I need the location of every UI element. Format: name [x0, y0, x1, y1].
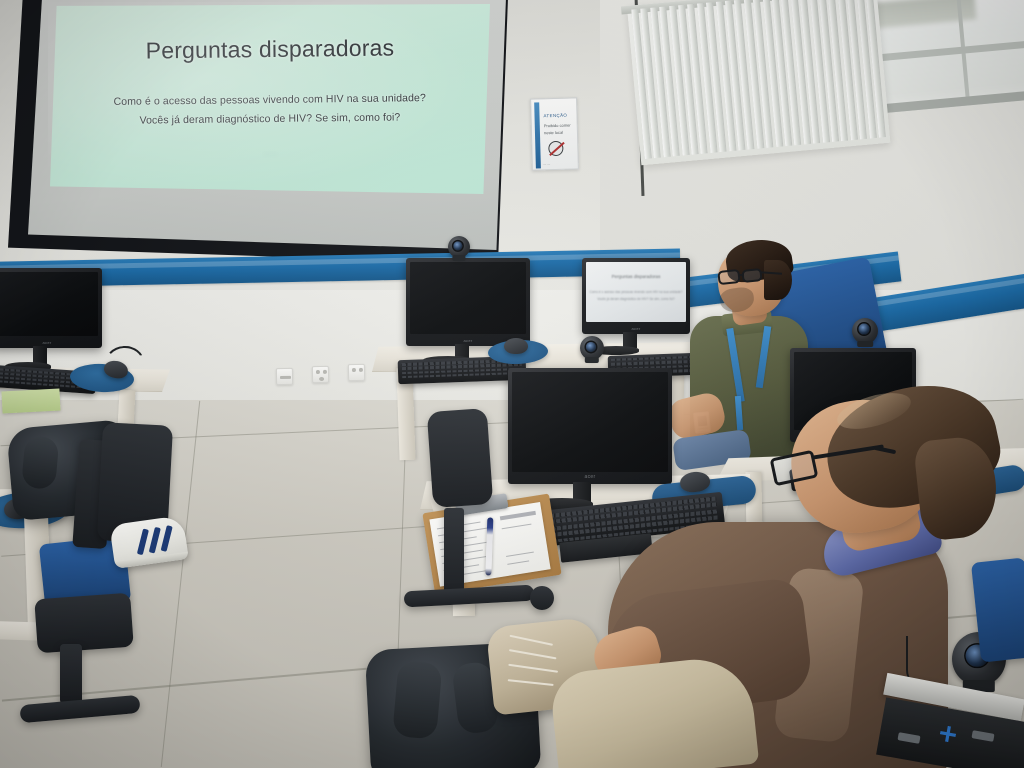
slide-body: Como é o acesso das pessoas vivendo com … — [76, 89, 465, 160]
projection-screen-frame: Perguntas disparadoras Como é o acesso d… — [8, 0, 508, 264]
slide-title: Perguntas disparadoras — [76, 34, 464, 66]
notice-line-2: neste local — [544, 129, 574, 135]
glasses-background — [717, 269, 740, 285]
monitor-slide-line-2: Vocês já deram diagnóstico de HIV? Se si… — [586, 297, 686, 301]
wall-outlet-3[interactable] — [348, 364, 365, 381]
webcam-center[interactable] — [580, 336, 604, 360]
webcam-center-back[interactable] — [448, 236, 470, 258]
monitor-slide-line-1: Como é o acesso das pessoas vivendo com … — [586, 290, 686, 294]
monitor-slide-title: Perguntas disparadoras — [586, 274, 686, 279]
chair-column-left — [60, 644, 82, 704]
monitor-center-brand: acer — [464, 338, 473, 343]
chair-caster-center — [530, 586, 554, 610]
mouse-center-back[interactable] — [504, 338, 528, 354]
monitor-showing-slide[interactable]: Perguntas disparadoras Como é o acesso d… — [582, 258, 690, 334]
chair-seat-left[interactable] — [34, 593, 134, 654]
chair-back-center[interactable] — [427, 408, 494, 508]
webcam-right[interactable] — [852, 318, 878, 344]
monitor-center-back[interactable]: acer — [406, 258, 530, 346]
monitor-left-brand: acer — [43, 340, 52, 345]
notice-line-1: Proibido comer — [544, 122, 574, 128]
monitor-left[interactable]: acer — [0, 268, 102, 348]
monitor-slide-brand: acer — [632, 326, 641, 331]
green-notepad — [1, 388, 60, 413]
person-background-hair-side — [764, 260, 792, 300]
notice-accent-bar — [534, 102, 541, 168]
window-blinds[interactable]: /*slats injected*/ — [627, 0, 890, 165]
projected-slide: Perguntas disparadoras Como é o acesso d… — [50, 4, 490, 194]
notice-footer: — — — [543, 161, 575, 166]
no-eating-icon — [548, 141, 563, 156]
chair-column-center — [444, 508, 464, 600]
notice-sign: ATENÇÃO Proibido comer neste local — — — [530, 97, 579, 170]
notice-heading: ATENÇÃO — [543, 112, 573, 118]
slide-footer-text: ..... — [76, 145, 464, 159]
chair-blue-foreground[interactable] — [971, 557, 1024, 662]
wall-outlet-1[interactable] — [276, 368, 293, 385]
classroom-photo-scene: /*slats injected*/ ATENÇÃO Proibido come… — [0, 0, 1024, 768]
window-area: /*slats injected*/ — [626, 0, 1024, 195]
wall-outlet-2[interactable] — [312, 366, 329, 383]
